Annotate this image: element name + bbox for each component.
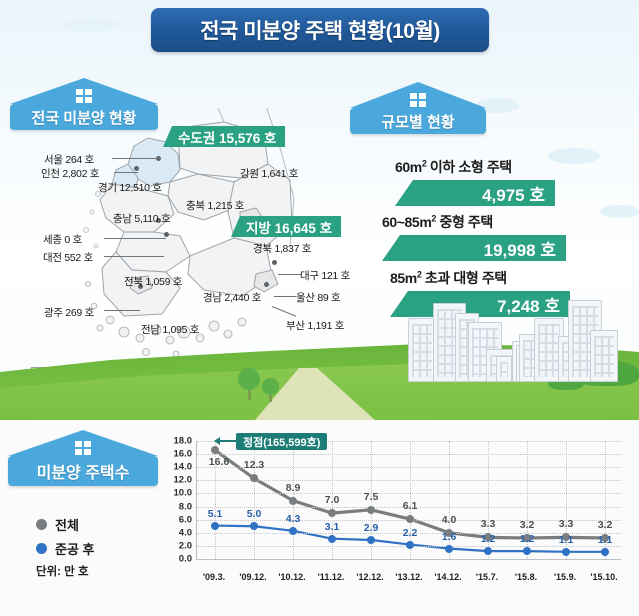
section-header-label: 규모별 현황 [350,108,486,134]
page-title-text: 전국 미분양 주택 현황(10월) [200,15,440,45]
chart-data-point [250,474,258,482]
size-caption-post: 이하 소형 주택 [426,159,511,175]
size-row-large-caption: 85m2 초과 대형 주택 [390,268,570,288]
chart-y-tick: 18.0 [158,436,192,447]
chart-data-point [523,547,531,555]
infographic-canvas: 전국 미분양 주택 현황(10월) 전국 미분양 현황 규모별 현황 [0,0,639,616]
size-row-medium: 60~85m2 중형 주택 19,998 호 [382,212,566,261]
peak-callout: 정점(165,599호) [236,433,327,450]
chart-legend: 전체 준공 후 단위: 만 호 [36,515,95,579]
map-label-daegu: 대구 121 호 [300,268,350,283]
tree-icon [262,378,279,402]
size-row-small-caption: 60m2 이하 소형 주택 [395,157,555,177]
size-row-large-value: 7,248 호 [390,291,570,317]
chart-data-point [289,497,297,505]
chart-y-tick: 10.0 [158,488,192,499]
chart-data-point [367,536,375,544]
size-row-medium-value: 19,998 호 [382,235,566,261]
badge-local-region: 지방 16,645 호 [231,216,341,237]
chart-x-tick: '10.12. [278,572,305,582]
leader-line-daejeon [104,256,164,257]
size-row-large: 85m2 초과 대형 주택 7,248 호 [390,268,570,317]
chart-gridline-h [197,493,621,494]
page-title: 전국 미분양 주택 현황(10월) [151,8,489,52]
legend-swatch-post [36,543,47,554]
chart-data-point [250,522,258,530]
map-dot-daejeon [164,232,169,237]
map-label-busan: 부산 1,191 호 [286,318,344,333]
chart-x-tick: '13.12. [395,572,422,582]
window-grid-icon [410,93,426,107]
chart-data-label: 8.9 [286,482,301,494]
map-label-jeonnam: 전남 1,095 호 [141,322,199,337]
chart-x-tick: '09.12. [239,572,266,582]
leader-line-ulsan [274,296,296,297]
legend-unit: 단위: 만 호 [36,563,95,579]
chart-y-tick: 2.0 [158,540,192,551]
chart-data-label: 16.6 [209,456,229,468]
badge-capital-region-text: 수도권 15,576 호 [178,127,276,147]
chart-data-point [601,548,609,556]
map-label-seoul: 서울 264 호 [44,152,94,167]
map-label-sejong: 세종 0 호 [43,232,82,247]
chart-y-tick: 6.0 [158,514,192,525]
cloud-icon [60,18,120,32]
chart-data-label: 1.1 [598,534,613,546]
chart-data-point [406,541,414,549]
leader-line-daegu [278,274,302,275]
chart-y-tick: 16.0 [158,449,192,460]
size-caption-pre: 60m [395,159,422,175]
building-icon [496,356,512,382]
legend-item-post: 준공 후 [36,539,95,558]
chart-data-point [484,547,492,555]
chart-y-tick: 4.0 [158,527,192,538]
chart-data-label: 2.2 [403,527,418,539]
map-label-gyeongbuk: 경북 1,837 호 [253,241,311,256]
chart-data-label: 3.1 [325,521,340,533]
chart-data-point [445,545,453,553]
map-label-gyeonggi: 경기 12,510 호 [98,180,162,195]
map-label-chungbuk: 충북 1,215 호 [186,198,244,213]
badge-local-region-text: 지방 16,645 호 [246,217,332,237]
chart-data-label: 3.2 [520,519,535,531]
map-label-daejeon: 대전 552 호 [43,250,93,265]
house-roof [10,78,158,104]
chart-data-point [328,509,336,517]
chart-data-label: 3.3 [481,518,496,530]
chart-data-point [289,527,297,535]
chart-data-point [406,515,414,523]
chart-data-label: 1.6 [442,531,457,543]
legend-label-post: 준공 후 [55,539,95,558]
chart-data-label: 1.2 [481,533,496,545]
chart-data-label: 1.2 [520,533,535,545]
chart-x-tick: '15.7. [476,572,498,582]
size-caption-pre: 85m [390,270,417,286]
chart-x-tick: '15.10. [590,572,617,582]
chart-data-point [211,522,219,530]
legend-label-total: 전체 [55,515,79,534]
chart-y-tick: 14.0 [158,462,192,473]
section-header-bysize: 규모별 현황 [350,82,486,134]
chart-data-label: 7.5 [364,491,379,503]
map-label-ulsan: 울산 89 호 [296,290,340,305]
chart-data-point [562,548,570,556]
chart-data-label: 5.0 [247,508,262,520]
size-caption-post: 초과 대형 주택 [421,270,506,286]
chart-x-tick: '09.3. [203,572,225,582]
map-dot-ulsan [272,260,277,265]
chart-data-label: 2.9 [364,522,379,534]
window-grid-icon [76,89,92,103]
cloud-icon [600,205,639,218]
peak-callout-text: 정점(165,599호) [243,434,320,450]
chart-x-axis: '09.3.'09.12.'10.12.'11.12.'12.12.'13.12… [196,570,620,586]
chart-y-tick: 0.0 [158,554,192,565]
chart-y-tick: 8.0 [158,501,192,512]
map-label-gwangju: 광주 269 호 [44,305,94,320]
chart-data-label: 1.1 [559,534,574,546]
building-icon [408,318,436,382]
map-label-chungnam: 충남 5,110 호 [113,211,170,226]
chart-plot-area: 16.612.38.97.07.56.14.03.33.23.33.25.15.… [196,441,621,560]
chart-data-label: 7.0 [325,494,340,506]
chart-data-label: 3.3 [559,518,574,530]
legend-swatch-total [36,519,47,530]
house-roof [8,430,158,456]
chart-x-tick: '14.12. [434,572,461,582]
cloud-icon [548,148,600,164]
section-header-unsoldcount: 미분양 주택수 [8,430,158,486]
chart-y-tick: 12.0 [158,475,192,486]
house-roof [350,82,486,108]
leader-line-seoul [112,158,160,159]
map-label-gyeongnam: 경남 2,440 호 [203,290,261,305]
size-caption-post: 중형 주택 [436,214,493,230]
map-label-incheon: 인천 2,802 호 [41,166,99,181]
chart-x-tick: '12.12. [356,572,383,582]
chart-x-tick: '11.12. [318,572,345,582]
chart-data-label: 3.2 [598,519,613,531]
chart-data-point [328,535,336,543]
leader-line-incheon [114,172,138,173]
building-icon [590,330,618,382]
chart-x-tick: '15.9. [554,572,576,582]
tree-icon [238,368,260,400]
map-dot-busan [264,282,269,287]
map-label-gangwon: 강원 1,641 호 [240,166,298,181]
section-header-label: 미분양 주택수 [8,456,158,486]
leader-line-gwangju [104,310,140,311]
chart-data-label: 12.3 [244,459,264,471]
chart-gridline-h [197,559,621,560]
size-row-medium-caption: 60~85m2 중형 주택 [382,212,566,232]
chart-data-label: 5.1 [208,508,223,520]
chart-gridline-h [197,480,621,481]
map-label-jeonbuk: 전북 1,059 호 [124,274,182,289]
size-caption-pre: 60~85m [382,214,431,230]
chart-data-label: 6.1 [403,500,418,512]
size-row-small: 60m2 이하 소형 주택 4,975 호 [395,157,555,206]
badge-capital-region: 수도권 15,576 호 [163,126,285,147]
legend-item-total: 전체 [36,515,95,534]
chart-x-tick: '15.8. [515,572,537,582]
chart-gridline-h [197,454,621,455]
chart-data-point [211,446,219,454]
window-grid-icon [75,441,91,455]
chart-data-point [367,506,375,514]
size-row-small-value: 4,975 호 [395,180,555,206]
map-dot-incheon [134,166,139,171]
chart-y-axis: 0.02.04.06.08.010.012.014.016.018.0 [158,434,192,566]
chart-data-label: 4.3 [286,513,301,525]
chart-data-label: 4.0 [442,514,457,526]
leader-line-sejong [104,238,166,239]
